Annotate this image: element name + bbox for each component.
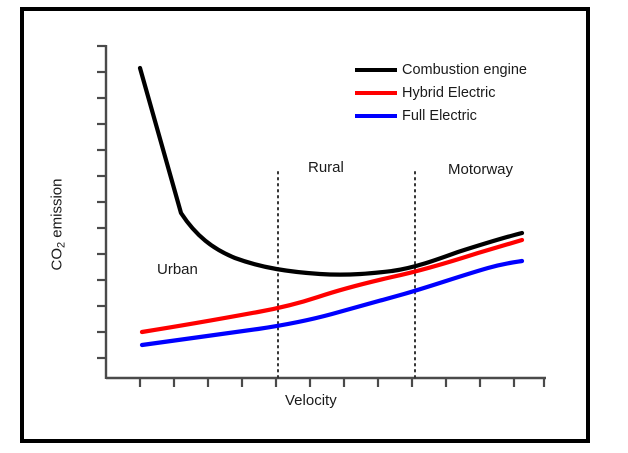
legend-label: Hybrid Electric xyxy=(402,85,495,101)
legend-label: Full Electric xyxy=(402,108,477,124)
legend-swatch-icon xyxy=(355,114,397,118)
y-axis-label-text: CO xyxy=(49,248,66,271)
legend-swatch-icon xyxy=(355,68,397,72)
y-axis-label-tail: emission xyxy=(49,179,66,242)
legend-swatch-icon xyxy=(355,91,397,95)
legend-item-hybrid-electric: Hybrid Electric xyxy=(355,81,565,104)
y-axis-label-subscript: 2 xyxy=(56,242,68,248)
region-label-urban: Urban xyxy=(157,262,198,277)
chart-legend: Combustion engine Hybrid Electric Full E… xyxy=(355,58,565,127)
figure-root: CO2 emission Velocity Urban Rural Motorw… xyxy=(0,0,628,453)
y-axis-label: CO2 emission xyxy=(46,150,68,300)
x-axis-label: Velocity xyxy=(285,393,337,408)
legend-item-combustion-engine: Combustion engine xyxy=(355,58,565,81)
region-label-motorway: Motorway xyxy=(448,162,513,177)
legend-label: Combustion engine xyxy=(402,62,527,78)
region-label-rural: Rural xyxy=(308,160,344,175)
legend-item-full-electric: Full Electric xyxy=(355,104,565,127)
